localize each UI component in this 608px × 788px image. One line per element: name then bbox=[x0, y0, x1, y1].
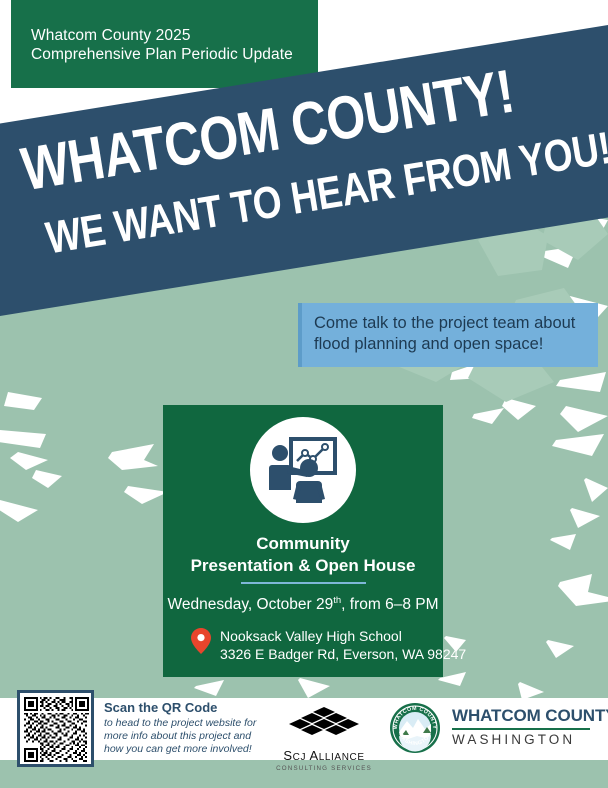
project-title-line-2: Comprehensive Plan Periodic Update bbox=[31, 45, 318, 64]
wordmark-rule bbox=[452, 728, 590, 730]
card-divider bbox=[241, 582, 366, 584]
venue-address: 3326 E Badger Rd, Everson, WA 98247 bbox=[220, 645, 466, 663]
wordmark-line-1: WHATCOM COUNTY bbox=[452, 706, 592, 726]
scj-alliance-name: SCJ ALLIANCE bbox=[272, 748, 376, 763]
qr-heading: Scan the QR Code bbox=[104, 700, 279, 716]
scj-name-cj: CJ bbox=[293, 752, 310, 763]
venue-row: Nooksack Valley High School 3326 E Badge… bbox=[191, 627, 443, 663]
qr-subtext-line-3: how you can get more involved! bbox=[104, 743, 279, 756]
project-title-box: Whatcom County 2025 Comprehensive Plan P… bbox=[11, 0, 318, 88]
venue-name: Nooksack Valley High School bbox=[220, 627, 466, 645]
event-title-line-1: Community bbox=[163, 533, 443, 555]
event-title: Community Presentation & Open House bbox=[163, 533, 443, 577]
project-title-line-1: Whatcom County 2025 bbox=[31, 26, 318, 45]
scj-alliance-tagline: CONSULTING SERVICES bbox=[272, 765, 376, 772]
scj-name-a: A bbox=[309, 748, 318, 763]
qr-subtext: to head to the project website for more … bbox=[104, 717, 279, 756]
venue-text: Nooksack Valley High School 3326 E Badge… bbox=[220, 627, 466, 663]
flyer-page: Whatcom County 2025 Comprehensive Plan P… bbox=[0, 0, 608, 788]
event-date-suffix: , from 6–8 PM bbox=[341, 596, 438, 613]
callout-line-1: Come talk to the project team about bbox=[314, 313, 598, 334]
event-date-prefix: Wednesday, October 29 bbox=[168, 596, 334, 613]
qr-code-icon[interactable] bbox=[17, 690, 94, 767]
event-datetime: Wednesday, October 29th, from 6–8 PM bbox=[163, 595, 443, 614]
qr-subtext-line-1: to head to the project website for bbox=[104, 717, 279, 730]
scj-alliance-logo: SCJ ALLIANCE CONSULTING SERVICES bbox=[272, 706, 376, 772]
callout-line-2: flood planning and open space! bbox=[314, 334, 598, 355]
callout-box: Come talk to the project team about floo… bbox=[298, 303, 598, 367]
event-title-line-2: Presentation & Open House bbox=[163, 555, 443, 577]
presentation-meeting-icon bbox=[250, 417, 356, 523]
map-pin-icon bbox=[191, 628, 211, 659]
whatcom-county-seal-icon: WHATCOM COUNTY WASHINGTON bbox=[389, 702, 441, 759]
qr-instructions: Scan the QR Code to head to the project … bbox=[104, 700, 279, 756]
wordmark-line-2: WASHINGTON bbox=[452, 732, 592, 747]
qr-subtext-line-2: more info about this project and bbox=[104, 730, 279, 743]
whatcom-county-wordmark: WHATCOM COUNTY WASHINGTON bbox=[452, 706, 592, 747]
event-date-ordinal: th bbox=[333, 595, 341, 606]
event-details-card: Community Presentation & Open House Wedn… bbox=[163, 405, 443, 677]
scj-checkerboard-icon bbox=[283, 706, 365, 740]
scj-name-lliance: LLIANCE bbox=[319, 752, 365, 763]
scj-name-s: S bbox=[283, 748, 292, 763]
